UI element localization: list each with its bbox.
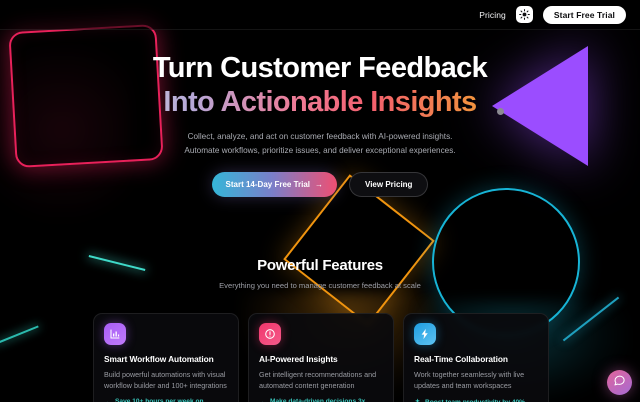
page-title: Turn Customer Feedback Into Actionable I… xyxy=(0,52,640,119)
card-description: Work together seamlessly with live updat… xyxy=(414,369,538,391)
card-title: Smart Workflow Automation xyxy=(104,354,228,364)
card-title: Real-Time Collaboration xyxy=(414,354,538,364)
sparkle-icon xyxy=(414,398,421,402)
lightning-bolt-icon xyxy=(414,323,436,345)
header-start-free-trial-button[interactable]: Start Free Trial xyxy=(543,6,626,24)
feature-cards: Smart Workflow Automation Build powerful… xyxy=(93,313,549,402)
alert-circle-icon xyxy=(259,323,281,345)
view-pricing-button[interactable]: View Pricing xyxy=(349,172,428,197)
card-stat-label: Save 10+ hours per week on repetitive ta… xyxy=(115,398,228,402)
hero-section: Turn Customer Feedback Into Actionable I… xyxy=(0,52,640,197)
site-header: Pricing Start Free Trial xyxy=(0,0,640,30)
hero-subtitle: Collect, analyze, and act on customer fe… xyxy=(170,130,470,157)
headline-line-2: Into Actionable Insights xyxy=(0,86,640,120)
start-trial-label: Start 14-Day Free Trial xyxy=(226,180,310,189)
chat-widget-button[interactable] xyxy=(607,370,632,395)
features-subtitle: Everything you need to manage customer f… xyxy=(0,281,640,290)
teal-line-shape xyxy=(0,325,39,344)
card-stat-label: Make data-driven decisions 3x faster xyxy=(270,398,383,402)
card-description: Get intelligent recommendations and auto… xyxy=(259,369,383,391)
feature-card-ai-insights[interactable]: AI-Powered Insights Get intelligent reco… xyxy=(248,313,394,402)
card-stat: Boost team productivity by 40% xyxy=(414,398,538,402)
card-stat: Make data-driven decisions 3x faster xyxy=(259,398,383,402)
features-heading-block: Powerful Features Everything you need to… xyxy=(0,257,640,290)
card-description: Build powerful automations with visual w… xyxy=(104,369,228,391)
headline-line-1: Turn Customer Feedback xyxy=(0,52,640,86)
teal-line-shape xyxy=(563,297,619,342)
landing-page: Pricing Start Free Trial Turn Cust xyxy=(0,0,640,402)
card-stat: Save 10+ hours per week on repetitive ta… xyxy=(104,398,228,402)
theme-toggle-button[interactable] xyxy=(516,6,533,23)
start-trial-button[interactable]: Start 14-Day Free Trial → xyxy=(212,172,337,197)
hero-cta-row: Start 14-Day Free Trial → View Pricing xyxy=(0,172,640,197)
features-title: Powerful Features xyxy=(0,257,640,274)
feature-card-realtime-collaboration[interactable]: Real-Time Collaboration Work together se… xyxy=(403,313,549,402)
sun-icon xyxy=(519,9,530,20)
chat-bubble-icon xyxy=(613,374,626,392)
orange-diamond-shape xyxy=(283,174,435,326)
card-title: AI-Powered Insights xyxy=(259,354,383,364)
bar-chart-icon xyxy=(104,323,126,345)
feature-card-workflow-automation[interactable]: Smart Workflow Automation Build powerful… xyxy=(93,313,239,402)
arrow-right-icon: → xyxy=(315,180,323,189)
nav-link-pricing[interactable]: Pricing xyxy=(479,10,506,20)
